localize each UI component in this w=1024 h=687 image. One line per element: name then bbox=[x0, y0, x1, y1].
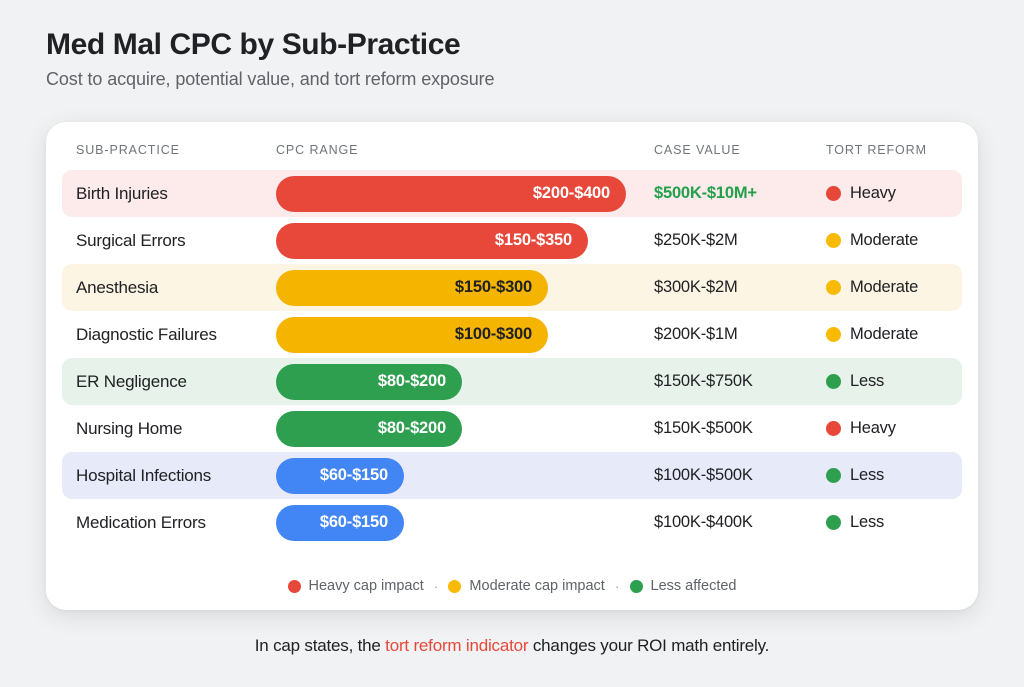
row-cpc-bar-cell: $100-$300 bbox=[276, 317, 654, 353]
footer-note: In cap states, the tort reform indicator… bbox=[0, 636, 1024, 656]
cpc-range-bar: $200-$400 bbox=[276, 176, 626, 212]
status-dot-icon bbox=[826, 186, 841, 201]
row-sub-practice-label: Birth Injuries bbox=[76, 184, 276, 204]
column-header-sub-practice: SUB-PRACTICE bbox=[76, 143, 276, 157]
row-sub-practice-label: Nursing Home bbox=[76, 419, 276, 439]
tort-reform-label: Less bbox=[850, 513, 884, 532]
status-dot-icon bbox=[826, 280, 841, 295]
row-case-value: $150K-$500K bbox=[654, 419, 826, 438]
table-row[interactable]: Hospital Infections$60-$150$100K-$500KLe… bbox=[62, 452, 962, 499]
legend-item: Moderate cap impact bbox=[448, 578, 604, 594]
legend-item: Heavy cap impact bbox=[288, 578, 424, 594]
legend-separator: · bbox=[614, 578, 621, 594]
status-dot-icon bbox=[826, 515, 841, 530]
row-case-value: $150K-$750K bbox=[654, 372, 826, 391]
row-cpc-bar-cell: $80-$200 bbox=[276, 411, 654, 447]
row-sub-practice-label: Hospital Infections bbox=[76, 466, 276, 486]
legend: Heavy cap impact·Moderate cap impact·Les… bbox=[46, 578, 978, 594]
row-case-value: $300K-$2M bbox=[654, 278, 826, 297]
status-dot-icon bbox=[826, 233, 841, 248]
cpc-range-bar: $60-$150 bbox=[276, 458, 404, 494]
cpc-range-bar: $100-$300 bbox=[276, 317, 548, 353]
row-sub-practice-label: Medication Errors bbox=[76, 513, 276, 533]
row-tort-reform: Moderate bbox=[826, 325, 978, 344]
column-header-tort-reform: TORT REFORM bbox=[826, 143, 978, 157]
row-tort-reform: Less bbox=[826, 372, 978, 391]
column-header-cpc-range: CPC RANGE bbox=[276, 143, 654, 157]
tort-reform-label: Heavy bbox=[850, 184, 896, 203]
row-tort-reform: Less bbox=[826, 513, 978, 532]
table-row[interactable]: Birth Injuries$200-$400$500K-$10M+Heavy bbox=[62, 170, 962, 217]
row-sub-practice-label: ER Negligence bbox=[76, 372, 276, 392]
status-dot-icon bbox=[826, 468, 841, 483]
table-row[interactable]: Surgical Errors$150-$350$250K-$2MModerat… bbox=[62, 217, 962, 264]
cpc-range-bar: $60-$150 bbox=[276, 505, 404, 541]
footer-text-before: In cap states, the bbox=[255, 636, 385, 655]
tort-reform-label: Less bbox=[850, 466, 884, 485]
legend-dot-icon bbox=[288, 580, 301, 593]
cpc-range-bar: $150-$300 bbox=[276, 270, 548, 306]
row-tort-reform: Heavy bbox=[826, 419, 978, 438]
row-case-value: $250K-$2M bbox=[654, 231, 826, 250]
row-tort-reform: Moderate bbox=[826, 231, 978, 250]
footer-emphasis: tort reform indicator bbox=[385, 636, 528, 655]
legend-label: Heavy cap impact bbox=[309, 578, 424, 594]
legend-label: Moderate cap impact bbox=[469, 578, 604, 594]
header: Med Mal CPC by Sub-Practice Cost to acqu… bbox=[46, 28, 946, 90]
tort-reform-label: Moderate bbox=[850, 278, 918, 297]
row-case-value: $200K-$1M bbox=[654, 325, 826, 344]
status-dot-icon bbox=[826, 327, 841, 342]
row-case-value: $500K-$10M+ bbox=[654, 184, 826, 203]
row-cpc-bar-cell: $60-$150 bbox=[276, 458, 654, 494]
row-tort-reform: Less bbox=[826, 466, 978, 485]
column-header-case-value: CASE VALUE bbox=[654, 143, 826, 157]
table-row[interactable]: Medication Errors$60-$150$100K-$400KLess bbox=[62, 499, 962, 546]
table-row[interactable]: Diagnostic Failures$100-$300$200K-$1MMod… bbox=[62, 311, 962, 358]
table-row[interactable]: Nursing Home$80-$200$150K-$500KHeavy bbox=[62, 405, 962, 452]
tort-reform-label: Moderate bbox=[850, 325, 918, 344]
page-root: Med Mal CPC by Sub-Practice Cost to acqu… bbox=[0, 0, 1024, 687]
cpc-range-bar: $80-$200 bbox=[276, 411, 462, 447]
cpc-range-bar: $150-$350 bbox=[276, 223, 588, 259]
status-dot-icon bbox=[826, 421, 841, 436]
row-cpc-bar-cell: $150-$350 bbox=[276, 223, 654, 259]
legend-dot-icon bbox=[630, 580, 643, 593]
table-row[interactable]: Anesthesia$150-$300$300K-$2MModerate bbox=[62, 264, 962, 311]
row-case-value: $100K-$400K bbox=[654, 513, 826, 532]
row-case-value: $100K-$500K bbox=[654, 466, 826, 485]
row-cpc-bar-cell: $200-$400 bbox=[276, 176, 654, 212]
cpc-range-bar: $80-$200 bbox=[276, 364, 462, 400]
legend-label: Less affected bbox=[651, 578, 737, 594]
legend-dot-icon bbox=[448, 580, 461, 593]
table-row[interactable]: ER Negligence$80-$200$150K-$750KLess bbox=[62, 358, 962, 405]
tort-reform-label: Moderate bbox=[850, 231, 918, 250]
row-sub-practice-label: Surgical Errors bbox=[76, 231, 276, 251]
page-title: Med Mal CPC by Sub-Practice bbox=[46, 28, 946, 63]
tort-reform-label: Less bbox=[850, 372, 884, 391]
row-tort-reform: Moderate bbox=[826, 278, 978, 297]
footer-text-after: changes your ROI math entirely. bbox=[528, 636, 769, 655]
table-body: Birth Injuries$200-$400$500K-$10M+HeavyS… bbox=[46, 170, 978, 546]
row-sub-practice-label: Diagnostic Failures bbox=[76, 325, 276, 345]
chart-card: SUB-PRACTICE CPC RANGE CASE VALUE TORT R… bbox=[46, 122, 978, 610]
row-cpc-bar-cell: $150-$300 bbox=[276, 270, 654, 306]
table-header-row: SUB-PRACTICE CPC RANGE CASE VALUE TORT R… bbox=[46, 122, 978, 170]
row-cpc-bar-cell: $60-$150 bbox=[276, 505, 654, 541]
row-cpc-bar-cell: $80-$200 bbox=[276, 364, 654, 400]
status-dot-icon bbox=[826, 374, 841, 389]
tort-reform-label: Heavy bbox=[850, 419, 896, 438]
row-sub-practice-label: Anesthesia bbox=[76, 278, 276, 298]
page-subtitle: Cost to acquire, potential value, and to… bbox=[46, 69, 946, 91]
legend-separator: · bbox=[433, 578, 440, 594]
legend-item: Less affected bbox=[630, 578, 737, 594]
row-tort-reform: Heavy bbox=[826, 184, 978, 203]
